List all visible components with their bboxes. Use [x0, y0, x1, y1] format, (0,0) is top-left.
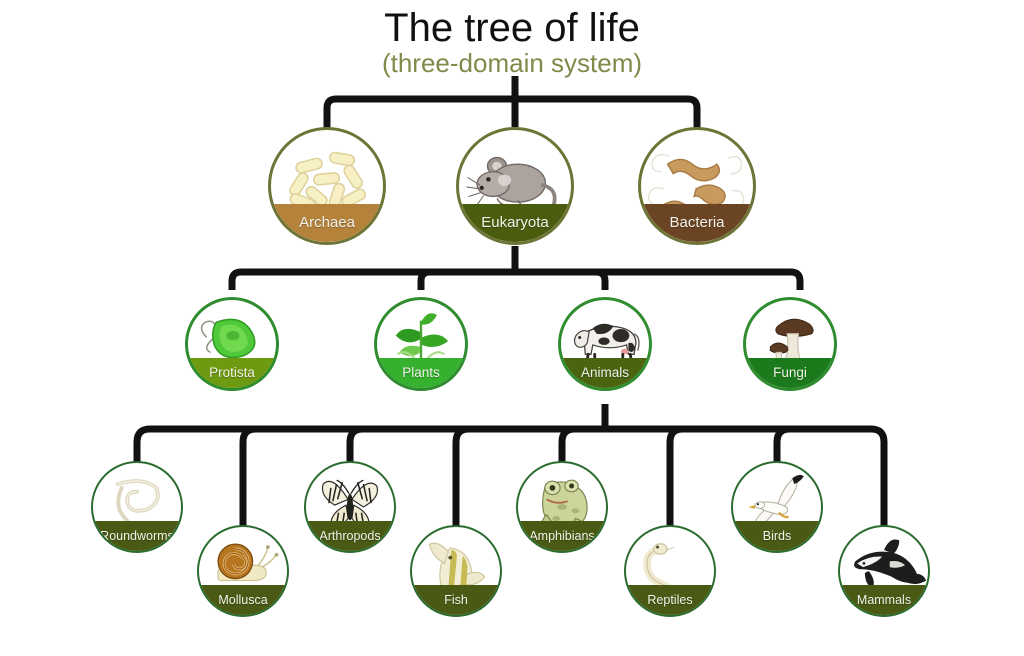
- node-mammals[interactable]: Mammals: [838, 525, 930, 617]
- connector-tier2-drop-plants: [421, 272, 430, 290]
- connector-tier2-drop-animals: [596, 272, 605, 290]
- node-label-amphibians: Amphibians: [529, 529, 594, 543]
- archaea-band: Archaea: [271, 204, 383, 242]
- node-plants[interactable]: Plants: [374, 297, 468, 391]
- connector-tier3-drop-mollusca: [243, 429, 256, 527]
- node-label-plants: Plants: [402, 366, 440, 380]
- node-label-animals: Animals: [581, 366, 629, 380]
- tree-of-life-diagram: The tree of life (three-domain system): [0, 0, 1024, 656]
- node-amphibians[interactable]: Amphibians: [516, 461, 608, 553]
- connector-tier3-drop-reptiles: [670, 429, 683, 527]
- node-label-mammals: Mammals: [857, 593, 911, 607]
- node-label-bacteria: Bacteria: [669, 216, 724, 230]
- fungi-band: Fungi: [746, 358, 834, 388]
- node-eukaryota[interactable]: Eukaryota: [456, 127, 574, 245]
- node-label-roundworms: Roundworms: [100, 529, 174, 543]
- amphibians-band: Amphibians: [518, 521, 606, 551]
- mammals-band: Mammals: [840, 585, 928, 615]
- node-birds[interactable]: Birds: [731, 461, 823, 553]
- node-roundworms[interactable]: Roundworms: [91, 461, 183, 553]
- birds-band: Birds: [733, 521, 821, 551]
- node-archaea[interactable]: Archaea: [268, 127, 386, 245]
- node-animals[interactable]: Animals: [558, 297, 652, 391]
- protista-band: Protista: [188, 358, 276, 388]
- node-label-reptiles: Reptiles: [647, 593, 692, 607]
- roundworms-band: Roundworms: [93, 521, 181, 551]
- node-label-birds: Birds: [763, 529, 791, 543]
- node-label-protista: Protista: [209, 366, 255, 380]
- node-label-mollusca: Mollusca: [218, 593, 267, 607]
- connector-tier2-bus: [232, 272, 800, 290]
- mollusca-band: Mollusca: [199, 585, 287, 615]
- node-fungi[interactable]: Fungi: [743, 297, 837, 391]
- node-label-fish: Fish: [444, 593, 468, 607]
- connector-tier3-drop-amphibians: [562, 429, 575, 463]
- animals-band: Animals: [561, 358, 649, 388]
- node-label-arthropods: Arthropods: [319, 529, 380, 543]
- node-fish[interactable]: Fish: [410, 525, 502, 617]
- plants-band: Plants: [377, 358, 465, 388]
- fish-band: Fish: [412, 585, 500, 615]
- node-label-fungi: Fungi: [773, 366, 807, 380]
- node-label-eukaryota: Eukaryota: [481, 216, 549, 230]
- node-label-archaea: Archaea: [299, 216, 355, 230]
- node-mollusca[interactable]: Mollusca: [197, 525, 289, 617]
- node-reptiles[interactable]: Reptiles: [624, 525, 716, 617]
- connector-tier3-drop-arthropods: [350, 429, 363, 463]
- bacteria-band: Bacteria: [641, 204, 753, 242]
- arthropods-band: Arthropods: [306, 521, 394, 551]
- eukaryota-band: Eukaryota: [459, 204, 571, 242]
- node-bacteria[interactable]: Bacteria: [638, 127, 756, 245]
- reptiles-band: Reptiles: [626, 585, 714, 615]
- connector-tier3-drop-birds: [777, 429, 790, 463]
- connector-tier3-drop-fish: [456, 429, 469, 527]
- node-arthropods[interactable]: Arthropods: [304, 461, 396, 553]
- node-protista[interactable]: Protista: [185, 297, 279, 391]
